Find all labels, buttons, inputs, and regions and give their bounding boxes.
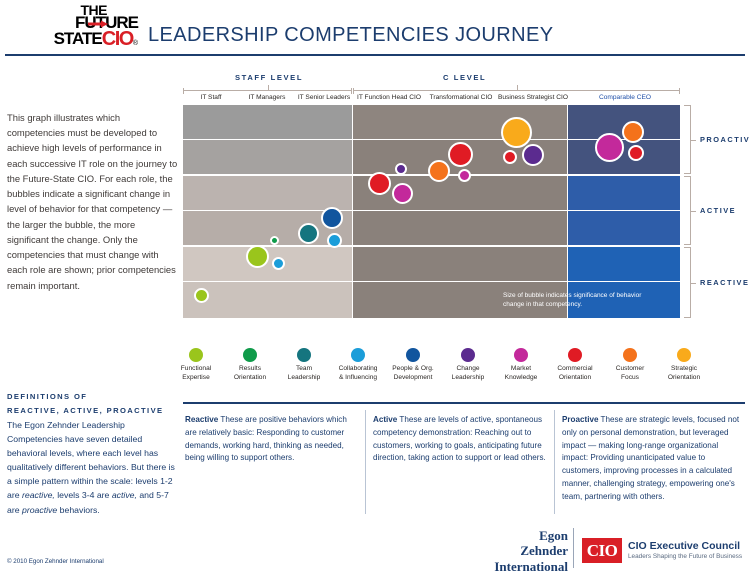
column-label-comparable-ceo: Comparable CEO [569, 94, 681, 101]
legend-label-line1: Team [296, 365, 312, 372]
definitions-body: The Egon Zehnder Leadership Competencies… [7, 418, 179, 517]
competency-legend: FunctionalExpertise ResultsOrientation T… [183, 348, 683, 392]
bubble-it-staff-functional-expertise [194, 288, 209, 303]
egon-zehnder-line2: Zehnder [488, 543, 568, 558]
legend-dot-functional-expertise [189, 348, 203, 362]
band-label-proactive: PROACTIVE [700, 135, 750, 144]
legend-label-line1: Results [239, 365, 261, 372]
bubble-comparable-ceo-commercial-orientation [628, 145, 644, 161]
legend-dot-customer-focus [623, 348, 637, 362]
cio-logo-mark: CIO [582, 538, 622, 563]
bubble-it-senior-leaders-team-leadership [298, 223, 319, 244]
definitions-body-proactive: proactive [22, 505, 57, 515]
legend-dot-results-orientation [243, 348, 257, 362]
header-divider [5, 54, 745, 56]
grid-cell [568, 140, 680, 174]
group-label-staff-level: STAFF LEVEL [235, 73, 303, 82]
grid-cell [568, 247, 680, 281]
logo-text-state: STATE [54, 32, 102, 47]
bubble-it-managers-functional-expertise [246, 245, 269, 268]
bubble-transformational-cio-market-knowledge [458, 169, 471, 182]
definition-term-proactive: Proactive [562, 415, 598, 424]
column-label-it-senior-leaders: IT Senior Leaders [295, 94, 353, 101]
legend-dot-commercial-orientation [568, 348, 582, 362]
bubble-it-managers-results-orientation [270, 236, 279, 245]
definition-text-proactive: These are strategic levels, focused not … [562, 415, 739, 501]
legend-label-line1: People & Org. [392, 365, 433, 372]
legend-item-commercial-orientation: CommercialOrientation [544, 348, 606, 383]
cio-council-tagline: Leaders Shaping the Future of Business [628, 553, 742, 561]
legend-dot-people-org-development [406, 348, 420, 362]
grid-panel-c-level [353, 105, 567, 318]
bubble-it-senior-leaders-collaborating-influencing [327, 233, 342, 248]
egon-zehnder-line1: Egon [488, 528, 568, 543]
definition-column-proactive: Proactive These are strategic levels, fo… [562, 414, 745, 503]
legend-label-line1: Functional [181, 365, 211, 372]
bracket-active [684, 176, 693, 245]
bubble-comparable-ceo-customer-focus [622, 121, 644, 143]
grid-cell [568, 211, 680, 245]
definition-term-reactive: Reactive [185, 415, 218, 424]
definitions-column-divider [554, 410, 555, 514]
bracket-c-level [353, 85, 680, 94]
group-label-c-level: C LEVEL [443, 73, 486, 82]
band-label-active: ACTIVE [700, 206, 736, 215]
legend-label-line2: Expertise [182, 374, 210, 381]
egon-zehnder-logo: Egon Zehnder International [488, 528, 568, 574]
legend-item-people-org-development: People & Org.Development [382, 348, 444, 383]
legend-dot-strategic-orientation [677, 348, 691, 362]
definition-term-active: Active [373, 415, 397, 424]
cio-executive-council-logo: CIO Executive Council Leaders Shaping th… [628, 540, 742, 561]
band-label-reactive: REACTIVE [700, 278, 749, 287]
definition-text-active: These are levels of active, spontaneous … [373, 415, 546, 462]
legend-label-line2: Orientation [234, 374, 266, 381]
bubble-it-function-head-cio-commercial-orientation [368, 172, 391, 195]
legend-item-strategic-orientation: StrategicOrientation [653, 348, 715, 383]
definitions-divider [183, 402, 745, 404]
legend-item-team-leadership: TeamLeadership [273, 348, 335, 383]
legend-label-line2: Knowledge [505, 374, 538, 381]
definition-column-active: Active These are levels of active, spont… [373, 414, 549, 465]
bubble-it-managers-collaborating-influencing [272, 257, 285, 270]
legend-label-line2: Development [394, 374, 433, 381]
bubble-it-function-head-cio-market-knowledge [392, 183, 413, 204]
legend-label-line2: & Influencing [339, 374, 377, 381]
intro-paragraph: This graph illustrates which competencie… [7, 110, 179, 293]
legend-label-line1: Customer [616, 365, 645, 372]
definitions-heading: DEFINITIONS OF REACTIVE, ACTIVE, PROACTI… [7, 390, 182, 418]
definitions-body-pre: The Egon Zehnder Leadership Competencies… [7, 420, 175, 500]
definitions-body-mid: levels 3-4 are [55, 490, 112, 500]
behavior-band-brackets: PROACTIVE ACTIVE REACTIVE [682, 105, 742, 318]
bubble-business-strategist-cio-commercial-orientation [503, 150, 517, 164]
legend-item-market-knowledge: MarketKnowledge [490, 348, 552, 383]
page-title: LEADERSHIP COMPETENCIES JOURNEY [148, 24, 553, 47]
legend-dot-collaborating-influencing [351, 348, 365, 362]
legend-label-line2: Leadership [452, 374, 485, 381]
definitions-heading-line2: REACTIVE, ACTIVE, PROACTIVE [7, 404, 182, 418]
column-label-it-managers: IT Managers [239, 94, 295, 101]
column-label-it-staff: IT Staff [183, 94, 239, 101]
page-header: THE FUTURE STATE CIO ® LEADERSHIP COMPET… [0, 0, 750, 56]
bubble-transformational-cio-customer-focus [428, 160, 450, 182]
definition-column-reactive: Reactive These are positive behaviors wh… [185, 414, 357, 465]
legend-label-line1: Change [456, 365, 479, 372]
footer-logo-divider [573, 528, 574, 568]
future-state-cio-logo: THE FUTURE STATE CIO ® [6, 4, 138, 48]
legend-label-line2: Orientation [668, 374, 700, 381]
legend-dot-team-leadership [297, 348, 311, 362]
bubble-size-note: Size of bubble indicates significance of… [503, 291, 663, 310]
bubble-it-function-head-cio-change-leadership [395, 163, 407, 175]
grid-cell [183, 282, 352, 318]
grid-cell [353, 247, 567, 281]
bubble-business-strategist-cio-change-leadership [522, 144, 544, 166]
legend-label-line2: Leadership [288, 374, 321, 381]
logo-text-cio: CIO [102, 31, 133, 47]
definitions-body-post: behaviors. [57, 505, 100, 515]
definitions-body-active: active, [112, 490, 137, 500]
copyright-notice: © 2010 Egon Zehnder International [7, 558, 104, 565]
legend-item-results-orientation: ResultsOrientation [219, 348, 281, 383]
legend-label-line1: Commercial [557, 365, 592, 372]
column-label-business-strategist-cio: Business Strategist CIO [497, 94, 569, 101]
definitions-column-divider [365, 410, 366, 514]
bubble-business-strategist-cio-strategic-orientation [501, 117, 532, 148]
legend-label-line2: Orientation [559, 374, 591, 381]
bubble-comparable-ceo-market-knowledge [595, 133, 624, 162]
cio-council-name: CIO Executive Council [628, 540, 742, 553]
definitions-heading-line1: DEFINITIONS OF [7, 390, 182, 404]
legend-label-line1: Market [511, 365, 531, 372]
arrow-icon [88, 20, 108, 28]
egon-zehnder-line3: International [488, 559, 568, 574]
grid-cell [183, 176, 352, 210]
grid-cell [568, 176, 680, 210]
grid-cell [183, 140, 352, 174]
legend-dot-market-knowledge [514, 348, 528, 362]
grid-cell [183, 105, 352, 139]
column-label-transformational-cio: Transformational CIO [425, 94, 497, 101]
bracket-proactive [684, 105, 693, 174]
chart-grid: Size of bubble indicates significance of… [183, 105, 680, 318]
legend-item-functional-expertise: FunctionalExpertise [165, 348, 227, 383]
bracket-staff-level [183, 85, 352, 94]
legend-item-customer-focus: CustomerFocus [599, 348, 661, 383]
bubble-transformational-cio-commercial-orientation [448, 142, 473, 167]
grid-cell [353, 105, 567, 139]
legend-label-line1: Collaborating [339, 365, 378, 372]
legend-label-line2: Focus [621, 374, 639, 381]
legend-dot-change-leadership [461, 348, 475, 362]
definitions-body-reactive: reactive, [22, 490, 55, 500]
registered-trademark-icon: ® [133, 41, 138, 47]
column-label-it-function-head-cio: IT Function Head CIO [353, 94, 425, 101]
grid-cell [353, 211, 567, 245]
legend-label-line1: Strategic [671, 365, 697, 372]
bubble-it-senior-leaders-people-org-development [321, 207, 343, 229]
legend-item-collaborating-influencing: Collaborating& Influencing [327, 348, 389, 383]
bracket-reactive [684, 247, 693, 318]
competencies-chart: STAFF LEVEL C LEVEL IT Staff IT Managers… [183, 72, 683, 347]
